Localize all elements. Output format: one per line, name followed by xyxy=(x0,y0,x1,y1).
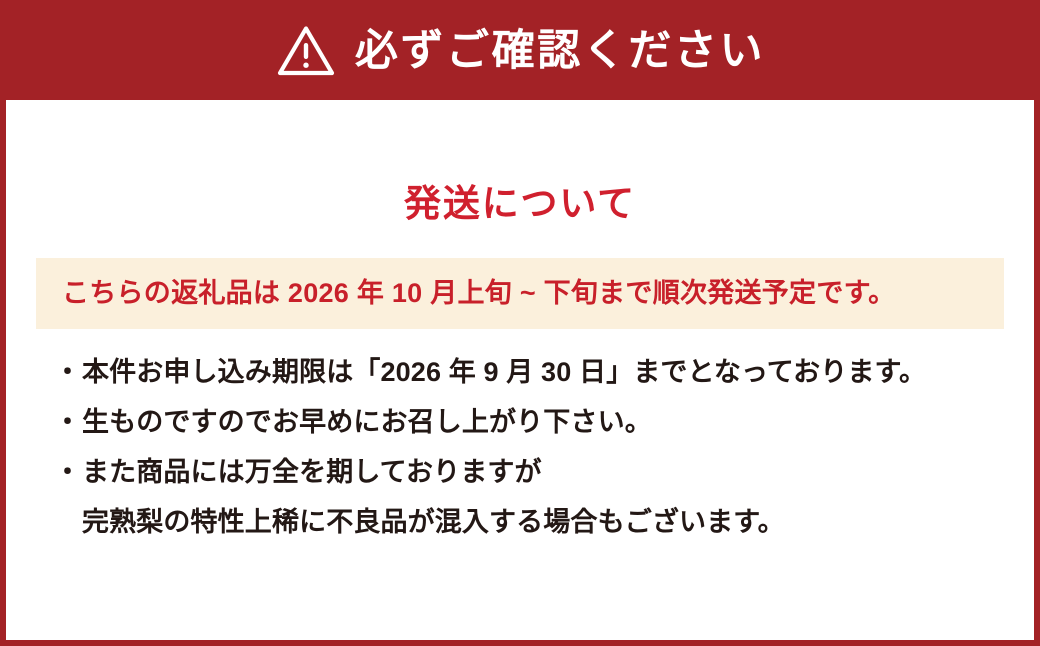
section-heading: 発送について xyxy=(6,100,1034,222)
bullet-mark-icon: ・ xyxy=(54,347,82,397)
list-item-text: 本件お申し込み期限は「2026 年 9 月 30 日」までとなっております。 xyxy=(82,347,926,397)
list-item-text: 生ものですのでお早めにお召し上がり下さい。 xyxy=(82,397,652,447)
notice-header: 必ずご確認ください xyxy=(0,0,1040,100)
notice-header-title: 必ずご確認ください xyxy=(355,30,765,73)
notice-card: 必ずご確認ください 発送について こちらの返礼品は 2026 年 10 月上旬 … xyxy=(0,0,1040,646)
list-item: ・ 生ものですのでお早めにお召し上がり下さい。 xyxy=(54,397,1014,447)
notice-bullet-list: ・ 本件お申し込み期限は「2026 年 9 月 30 日」までとなっております。… xyxy=(54,347,1014,547)
list-item-text: また商品には万全を期しておりますが xyxy=(82,447,785,497)
shipping-schedule-text: こちらの返礼品は 2026 年 10 月上旬 ~ 下旬まで順次発送予定です。 xyxy=(36,280,895,307)
bullet-mark-icon: ・ xyxy=(54,447,82,497)
notice-body: 発送について こちらの返礼品は 2026 年 10 月上旬 ~ 下旬まで順次発送… xyxy=(6,100,1034,640)
list-item: ・ また商品には万全を期しておりますが 完熟梨の特性上稀に不良品が混入する場合も… xyxy=(54,447,1014,547)
warning-triangle-icon xyxy=(275,23,337,79)
list-item-content: 本件お申し込み期限は「2026 年 9 月 30 日」までとなっております。 xyxy=(82,347,926,397)
list-item-content: また商品には万全を期しておりますが 完熟梨の特性上稀に不良品が混入する場合もござ… xyxy=(82,447,785,547)
list-item-content: 生ものですのでお早めにお召し上がり下さい。 xyxy=(82,397,652,447)
bullet-mark-icon: ・ xyxy=(54,397,82,447)
list-item: ・ 本件お申し込み期限は「2026 年 9 月 30 日」までとなっております。 xyxy=(54,347,1014,397)
shipping-schedule-highlight: こちらの返礼品は 2026 年 10 月上旬 ~ 下旬まで順次発送予定です。 xyxy=(36,258,1004,329)
list-item-subline: 完熟梨の特性上稀に不良品が混入する場合もございます。 xyxy=(82,497,785,547)
